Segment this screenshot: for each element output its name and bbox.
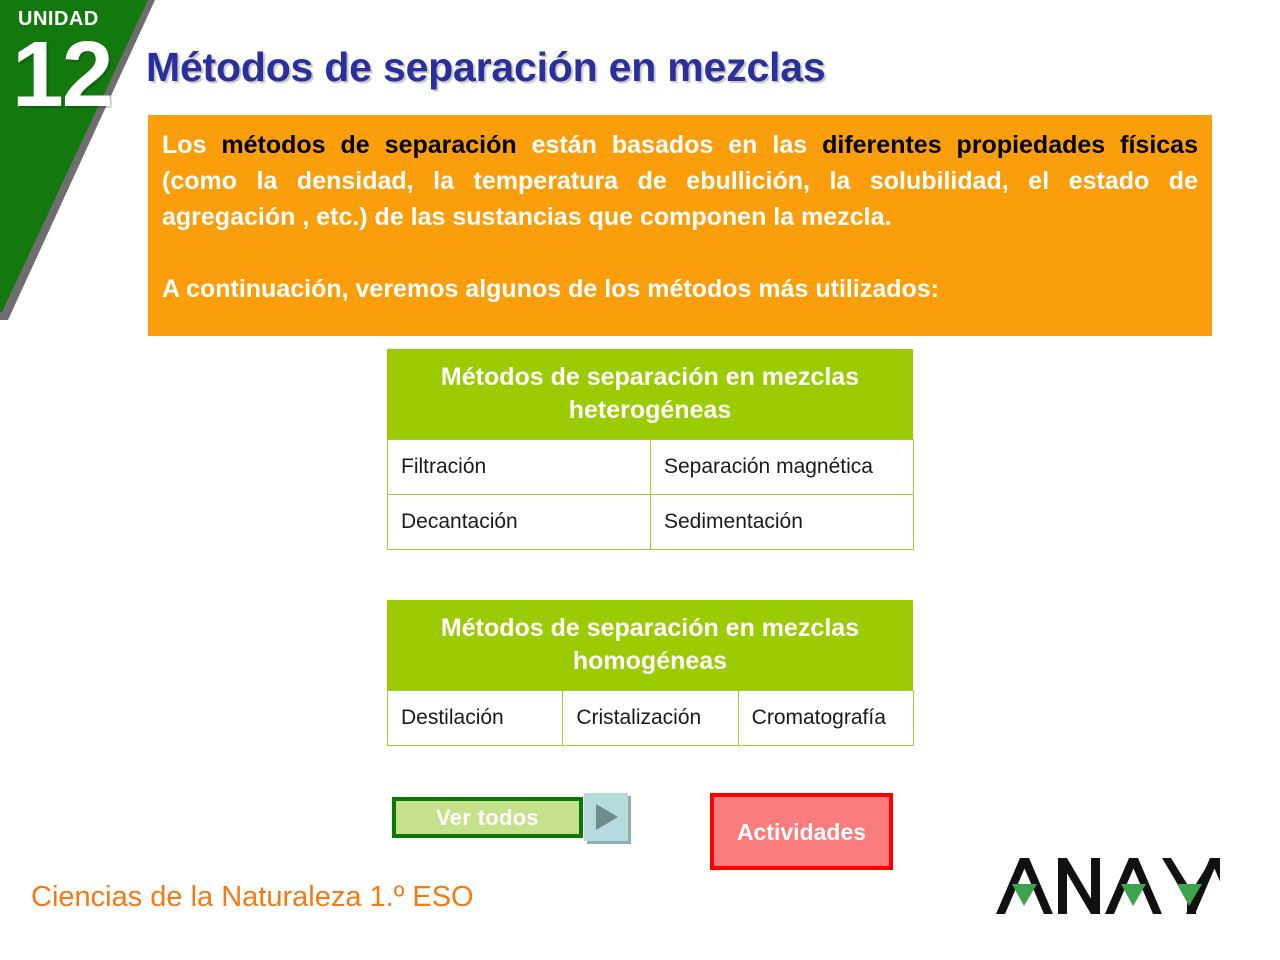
table-heterogeneas-body: Filtración Separación magnética Decantac…: [387, 439, 914, 550]
page-title: Métodos de separación en mezclas: [146, 44, 825, 91]
unit-number: 12: [12, 28, 111, 121]
table-heterogeneas: Métodos de separación en mezclas heterog…: [387, 349, 913, 550]
table-homogeneas-header: Métodos de separación en mezclas homogén…: [387, 600, 913, 690]
table-row: Destilación Cristalización Cromatografía: [388, 691, 914, 746]
table-cell-decantacion: Decantación: [388, 495, 651, 550]
anaya-triangle-1: [1012, 884, 1037, 906]
table-cell-separacion-magnetica: Separación magnética: [651, 440, 914, 495]
anaya-logo-svg: [996, 858, 1220, 916]
definition-text-3: están basados en las: [517, 131, 822, 159]
definition-paragraph-1: Los métodos de separación están basados …: [162, 127, 1198, 235]
anaya-logo: [996, 858, 1220, 916]
footer-course-label: Ciencias de la Naturaleza 1.º ESO: [31, 881, 474, 914]
definition-paragraph-2: A continuación, veremos algunos de los m…: [162, 271, 1198, 307]
play-button[interactable]: [584, 793, 628, 841]
table-cell-cromatografia: Cromatografía: [738, 691, 913, 746]
definition-text-4-bold: diferentes propiedades físicas: [822, 131, 1198, 159]
table-heterogeneas-header: Métodos de separación en mezclas heterog…: [387, 349, 913, 439]
table-cell-sedimentacion: Sedimentación: [651, 495, 914, 550]
definition-box: Los métodos de separación están basados …: [148, 115, 1212, 336]
table-row: Filtración Separación magnética: [388, 440, 914, 495]
table-cell-filtracion: Filtración: [388, 440, 651, 495]
table-homogeneas: Métodos de separación en mezclas homogén…: [387, 600, 913, 746]
table-cell-cristalizacion: Cristalización: [563, 691, 738, 746]
anaya-triangle-2: [1121, 884, 1146, 906]
actividades-button[interactable]: Actividades: [710, 793, 893, 870]
ver-todos-button[interactable]: Ver todos: [392, 797, 583, 838]
table-cell-destilacion: Destilación: [388, 691, 563, 746]
table-homogeneas-body: Destilación Cristalización Cromatografía: [387, 690, 914, 746]
definition-text-1: Los: [162, 131, 221, 159]
definition-text-5: (como la densidad, la temperatura de ebu…: [162, 167, 1198, 231]
definition-text-2-bold: métodos de separación: [221, 131, 516, 159]
play-icon: [596, 804, 618, 830]
unit-flag: UNIDAD 12: [0, 0, 165, 320]
table-row: Decantación Sedimentación: [388, 495, 914, 550]
